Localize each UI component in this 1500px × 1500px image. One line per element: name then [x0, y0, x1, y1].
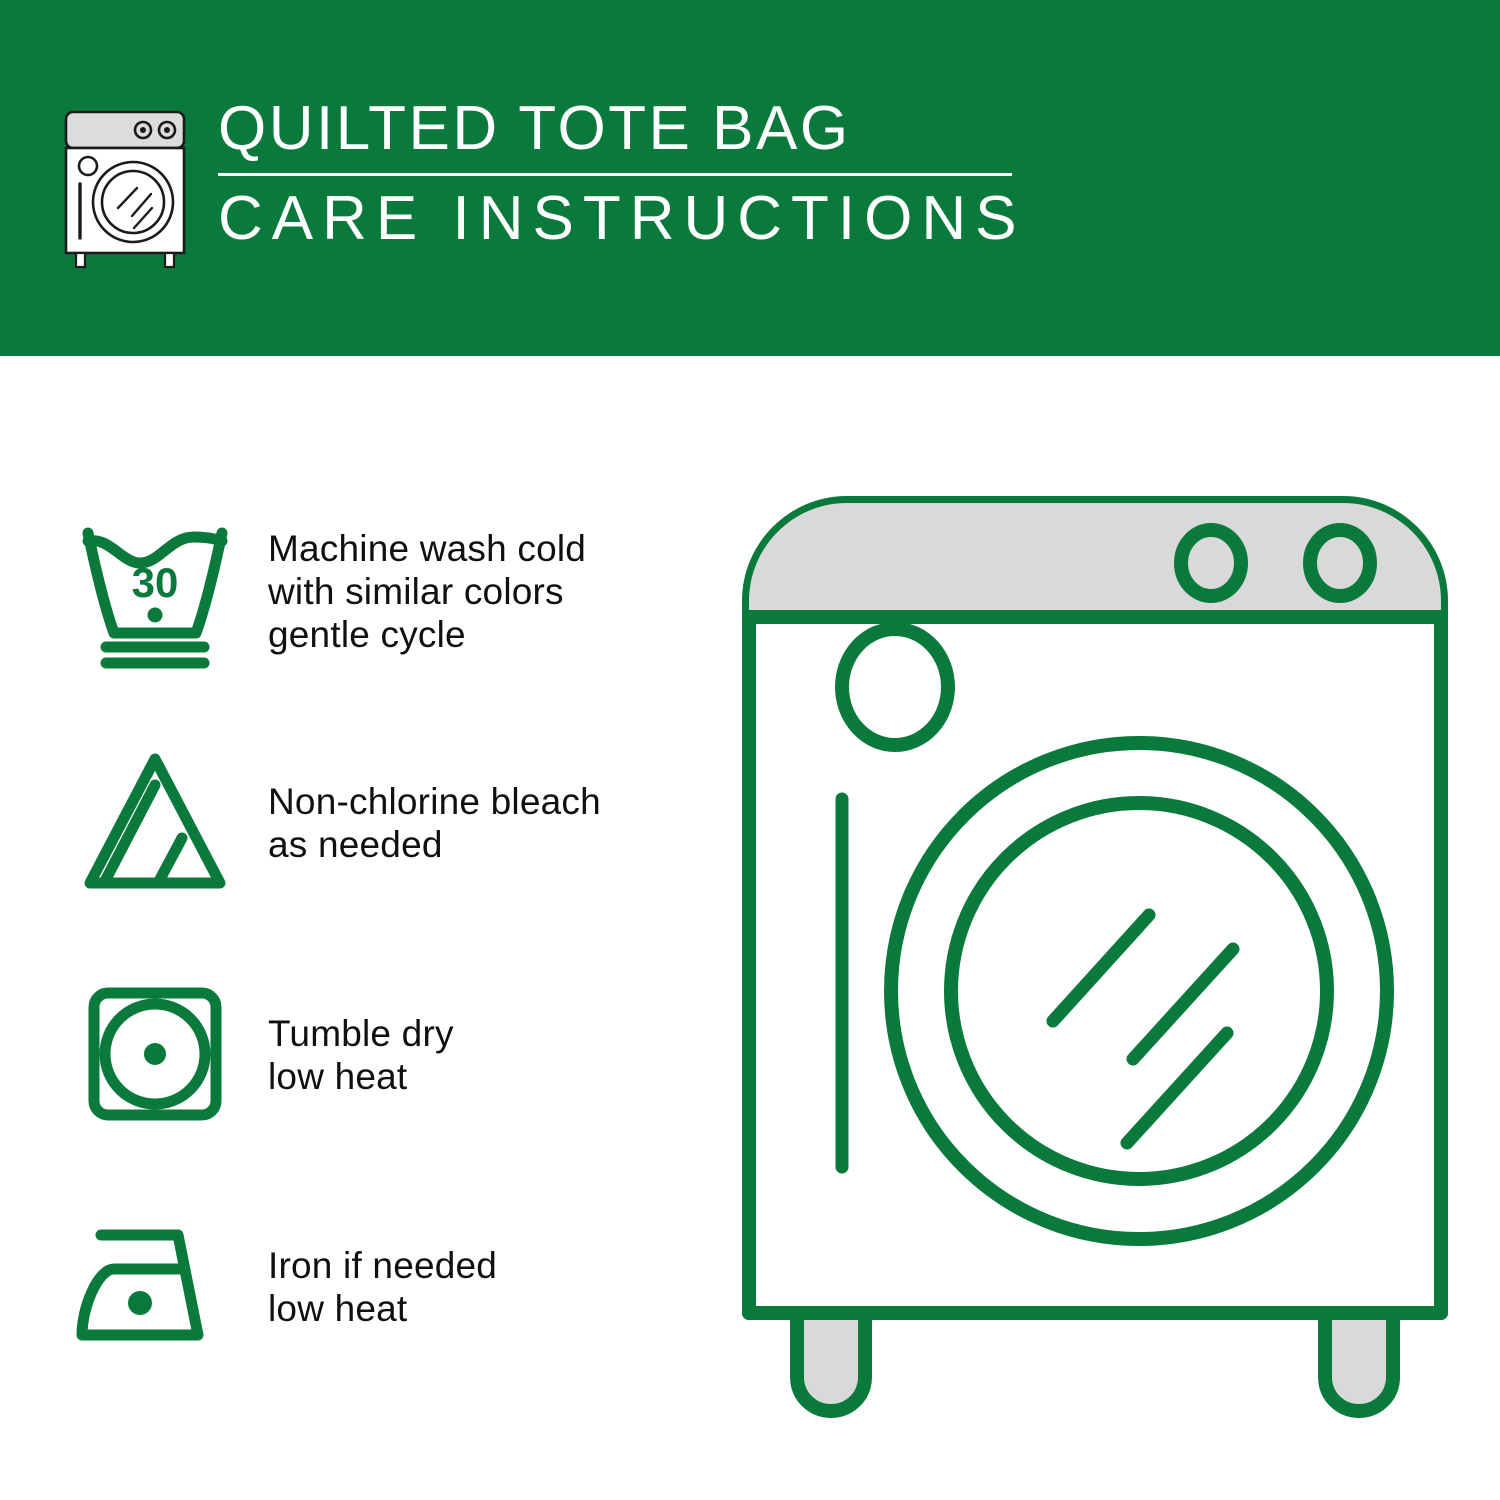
title-divider [218, 173, 1012, 176]
care-label-bleach: Non-chlorine bleach as needed [268, 780, 710, 866]
page-title: QUILTED TOTE BAG [218, 96, 1040, 162]
header-banner: QUILTED TOTE BAG CARE INSTRUCTIONS [0, 0, 1500, 356]
wash-temperature-value: 30 [132, 559, 179, 606]
front-load-washing-machine-illustration [735, 481, 1455, 1431]
care-row-tumble-dry: Tumble dry low heat [70, 970, 710, 1140]
washer-indicator-light [842, 629, 948, 745]
washer-leg-left [797, 1313, 865, 1411]
care-row-bleach: Non-chlorine bleach as needed [70, 738, 710, 908]
care-row-machine-wash: 30 Machine wash cold with similar colors… [70, 506, 710, 676]
machine-wash-30-gentle-symbol: 30 [70, 511, 240, 671]
washer-leg-right [1325, 1313, 1393, 1411]
content-area: 30 Machine wash cold with similar colors… [0, 356, 1500, 1500]
care-instruction-list: 30 Machine wash cold with similar colors… [70, 506, 710, 1372]
care-label-machine-wash: Machine wash cold with similar colors ge… [268, 527, 710, 656]
header-title-block: QUILTED TOTE BAG CARE INSTRUCTIONS [218, 96, 1040, 254]
tumble-dry-low-symbol [70, 975, 240, 1135]
care-label-tumble-dry: Tumble dry low heat [268, 1012, 710, 1098]
header-content: QUILTED TOTE BAG CARE INSTRUCTIONS [60, 96, 1040, 276]
page-subtitle: CARE INSTRUCTIONS [218, 184, 1040, 254]
care-label-iron: Iron if needed low heat [268, 1244, 710, 1330]
washing-machine-logo-icon [60, 108, 190, 273]
iron-low-heat-symbol [70, 1207, 240, 1367]
non-chlorine-bleach-symbol [70, 743, 240, 903]
care-row-iron: Iron if needed low heat [70, 1202, 710, 1372]
